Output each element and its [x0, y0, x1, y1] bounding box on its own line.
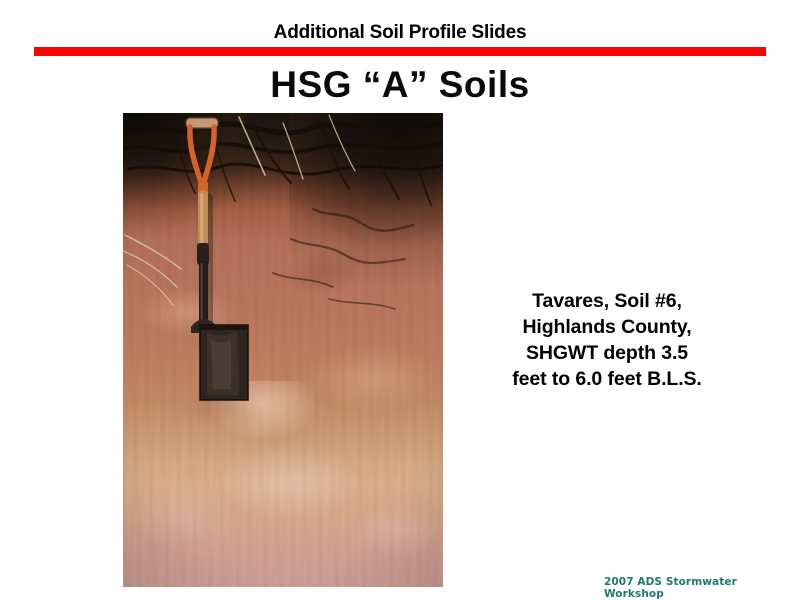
page-title: HSG “A” Soils: [0, 64, 800, 106]
slide-canvas: Additional Soil Profile Slides HSG “A” S…: [0, 0, 800, 600]
caption-line-1: Tavares, Soil #6,: [466, 288, 748, 314]
caption-line-4: feet to 6.0 feet B.L.S.: [466, 366, 748, 392]
spade-shank: [199, 261, 208, 329]
soil-profile-photo: [123, 113, 443, 587]
spade-tool: [123, 113, 443, 587]
footer-attribution: 2007 ADS Stormwater Workshop: [604, 576, 800, 600]
header-title: Additional Soil Profile Slides: [0, 22, 800, 44]
photo-caption: Tavares, Soil #6, Highlands County, SHGW…: [466, 288, 748, 392]
caption-line-3: SHGWT depth 3.5: [466, 340, 748, 366]
caption-line-2: Highlands County,: [466, 314, 748, 340]
header-divider-rule: [34, 47, 766, 56]
